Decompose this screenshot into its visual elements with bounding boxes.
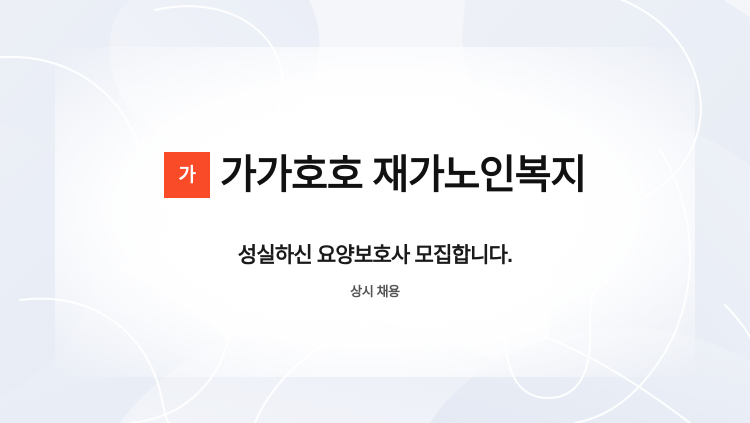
banner-content: 가 가가호호 재가노인복지 성실하신 요양보호사 모집합니다. 상시 채용 — [0, 0, 750, 423]
recruitment-headline: 성실하신 요양보호사 모집합니다. — [238, 243, 512, 268]
title-row: 가 가가호호 재가노인복지 — [164, 127, 586, 223]
recruitment-banner: 가 가가호호 재가노인복지 성실하신 요양보호사 모집합니다. 상시 채용 — [0, 0, 750, 423]
company-logo-badge: 가 — [164, 152, 210, 198]
recruitment-tagline: 상시 채용 — [350, 284, 399, 300]
company-title: 가가호호 재가노인복지 — [220, 154, 586, 196]
